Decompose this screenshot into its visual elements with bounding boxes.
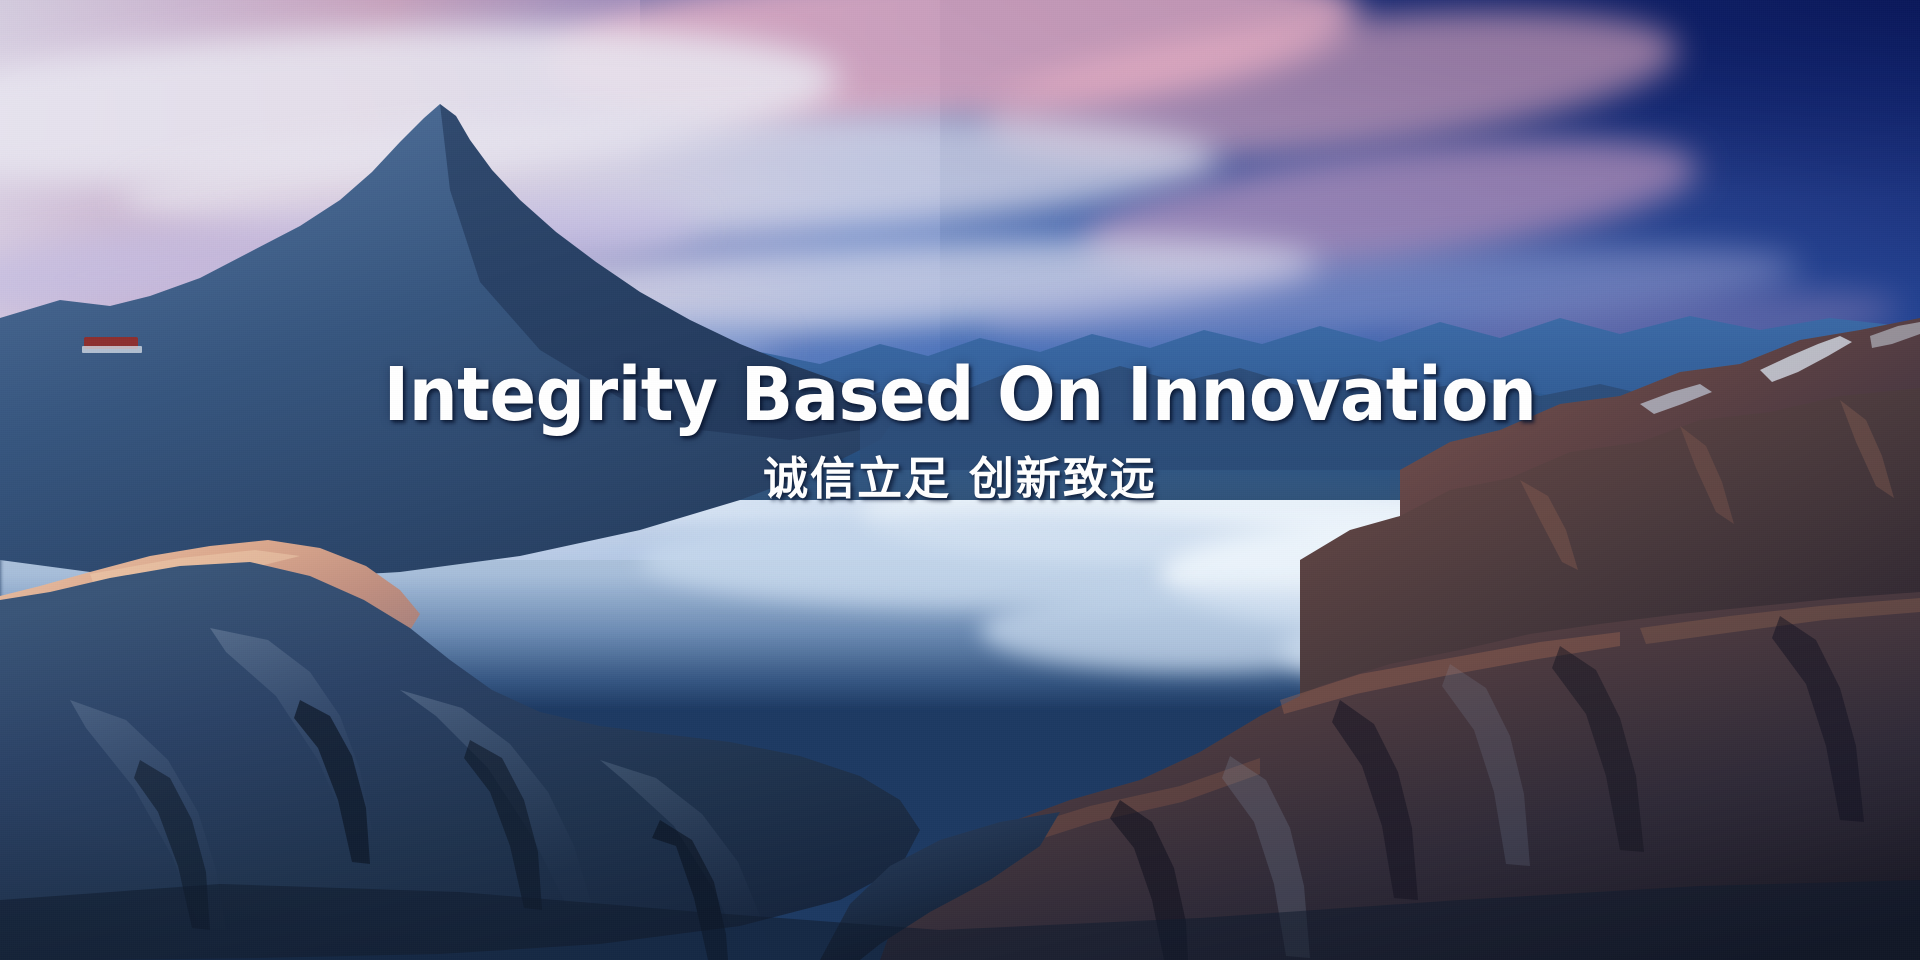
page-subtitle: 诚信立足 创新致远 bbox=[0, 452, 1920, 506]
hero-banner: Integrity Based On Innovation 诚信立足 创新致远 bbox=[0, 0, 1920, 960]
page-title: Integrity Based On Innovation bbox=[67, 352, 1853, 438]
hero-text-block: Integrity Based On Innovation 诚信立足 创新致远 bbox=[0, 352, 1920, 506]
